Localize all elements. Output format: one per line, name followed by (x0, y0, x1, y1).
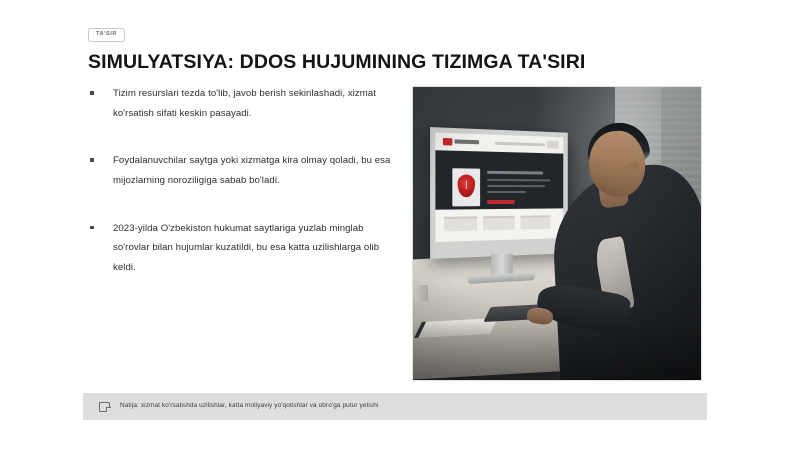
exclamation-mark-icon (466, 181, 468, 189)
list-item: Tizim resurslari tezda to'lib, javob ber… (88, 84, 400, 123)
person-ear (627, 161, 639, 176)
body-line (487, 185, 545, 187)
slide-header: TA'SIR SIMULYATSIYA: DDOS HUJUMINING TIZ… (88, 22, 728, 73)
site-logo-icon (443, 138, 452, 146)
list-item-text: 2023-yilda O'zbekiston hukumat saytlarig… (113, 219, 400, 278)
card (444, 216, 477, 231)
list-item: Foydalanuvchilar saytga yoki xizmatga ki… (88, 151, 400, 190)
slide-image (412, 86, 702, 381)
card (520, 215, 550, 229)
office-scene (413, 87, 701, 380)
bullet-square-icon (90, 226, 94, 230)
body-line (487, 179, 550, 182)
nav-links (495, 142, 545, 146)
list-item-text: Tizim resurslari tezda to'lib, javob ber… (113, 84, 400, 123)
body-line (487, 191, 526, 193)
headline-bar (487, 171, 543, 175)
warning-alert-icon (458, 174, 475, 197)
note-icon-fold (106, 407, 111, 412)
list-item-text: Foydalanuvchilar saytga yoki xizmatga ki… (113, 151, 400, 190)
page-title: SIMULYATSIYA: DDOS HUJUMINING TIZIMGA TA… (88, 51, 728, 73)
card (483, 216, 515, 231)
lower-cards-row (435, 208, 563, 242)
browser-bar (435, 132, 563, 153)
coffee-mug (415, 285, 428, 302)
note-icon (99, 402, 110, 412)
cta-button (487, 200, 515, 204)
list-item: 2023-yilda O'zbekiston hukumat saytlarig… (88, 219, 400, 278)
desk-shadow (413, 322, 702, 380)
footer-callout: Natija: xizmat ko'rsatishda uzilishlar, … (83, 393, 707, 420)
monitor (430, 127, 568, 259)
bullet-list: Tizim resurslari tezda to'lib, javob ber… (88, 84, 400, 278)
alert-card (452, 168, 480, 206)
bullet-square-icon (90, 158, 94, 162)
site-logo-text (454, 139, 479, 144)
monitor-screen (435, 132, 563, 242)
bullet-square-icon (90, 91, 94, 95)
slide-root: TA'SIR SIMULYATSIYA: DDOS HUJUMINING TIZ… (0, 0, 800, 450)
browser-action-button (547, 141, 559, 149)
footer-callout-text: Natija: xizmat ko'rsatishda uzilishlar, … (120, 403, 378, 409)
kicker-badge: TA'SIR (88, 28, 125, 42)
